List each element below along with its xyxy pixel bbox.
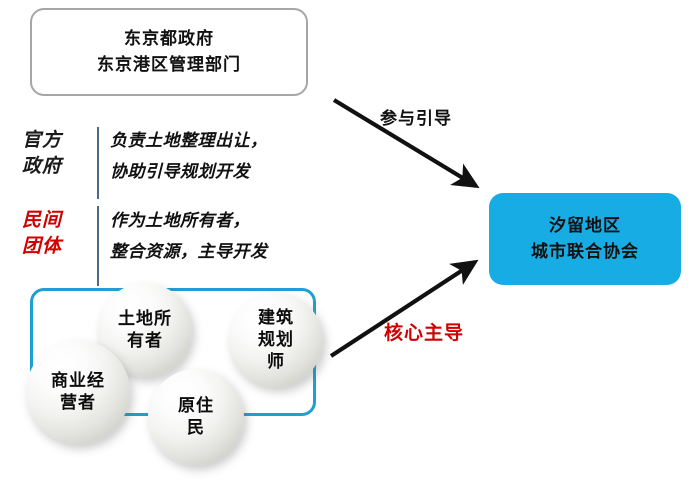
sphere-original-resident: 原住 民 [148, 369, 244, 465]
association-box-line-2: 城市联合协会 [531, 242, 639, 262]
category-label-official-line-2: 政府 [22, 154, 96, 180]
sphere-original-resident-label: 原住 民 [172, 395, 220, 439]
category-divider-civil [97, 206, 99, 286]
association-box-line-1: 汐留地区 [549, 216, 621, 236]
sphere-architect: 建筑 规划 师 [229, 293, 323, 387]
category-description-civil: 作为土地所有者， 整合资源，主导开发 [110, 206, 268, 267]
category-description-civil-line-2: 整合资源，主导开发 [110, 237, 268, 268]
category-description-official-line-1: 负责土地整理出让， [110, 126, 268, 157]
government-box-line-2: 东京港区管理部门 [97, 55, 241, 75]
category-divider-official [97, 127, 99, 199]
category-description-official-line-2: 协助引导规划开发 [110, 157, 268, 188]
sphere-landowner-label: 土地所 有者 [112, 308, 178, 352]
arrow-label-core-leadership: 核心主导 [384, 318, 464, 345]
category-label-official-line-1: 官方 [22, 128, 96, 154]
category-label-official: 官方 政府 [22, 128, 96, 179]
category-description-official: 负责土地整理出让， 协助引导规划开发 [110, 126, 268, 187]
sphere-business-operator: 商业经 营者 [26, 340, 130, 444]
category-label-civil: 民间 团体 [22, 208, 96, 259]
government-box: 东京都政府 东京港区管理部门 [30, 8, 308, 96]
category-label-civil-line-2: 团体 [22, 234, 96, 260]
category-label-civil-line-1: 民间 [22, 208, 96, 234]
government-box-line-1: 东京都政府 [124, 29, 214, 49]
diagram-canvas: 东京都政府 东京港区管理部门 官方 政府 负责土地整理出让， 协助引导规划开发 … [0, 0, 700, 483]
association-box: 汐留地区 城市联合协会 [489, 193, 681, 285]
sphere-business-operator-label: 商业经 营者 [45, 370, 111, 414]
category-description-civil-line-1: 作为土地所有者， [110, 206, 268, 237]
sphere-architect-label: 建筑 规划 师 [252, 307, 300, 372]
arrow-label-participate-guide: 参与引导 [380, 104, 452, 129]
